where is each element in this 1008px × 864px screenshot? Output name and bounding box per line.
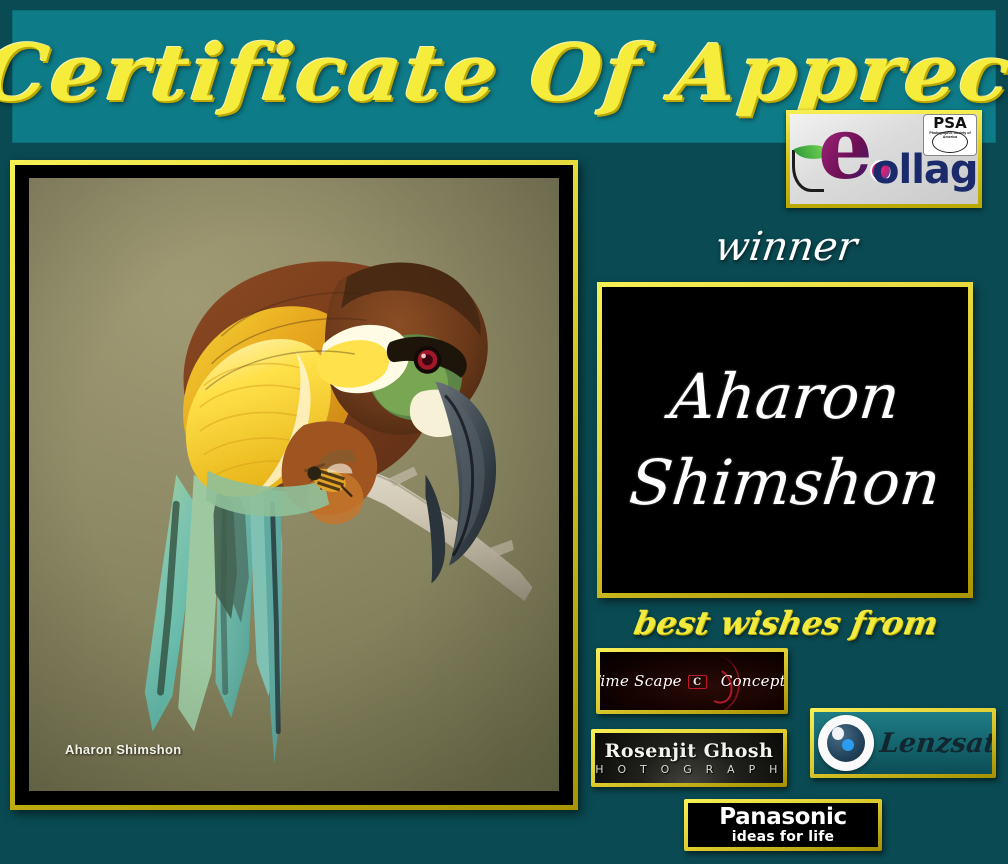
lenzsation-inner: Lenzsation (814, 712, 992, 774)
psa-oval-icon (932, 131, 968, 153)
lens-blue-dot-icon (842, 739, 854, 751)
sponsor-rosenjit-ghosh-photography: Rosenjit Ghosh P H O T O G R A P H Y (591, 729, 787, 787)
winning-photograph: Aharon Shimshon (29, 178, 559, 791)
concepts-text: Concepts (721, 672, 784, 690)
photo-mat: Aharon Shimshon (15, 165, 573, 805)
time-scape-concepts-wordmark: Time ScapeConcepts (600, 672, 784, 690)
rosenjit-ghosh-name: Rosenjit Ghosh (605, 741, 774, 762)
rosenjit-ghosh-inner: Rosenjit Ghosh P H O T O G R A P H Y (595, 733, 783, 783)
ecollage-logo: e ollage PSA Photographic Society of Ame… (786, 110, 982, 208)
best-wishes-label: best wishes from (596, 600, 976, 646)
winner-name-panel-inner: Aharon Shimshon (602, 287, 968, 593)
winner-first-name: Aharon (666, 356, 903, 438)
winner-last-name: Shimshon (626, 442, 945, 524)
time-scape-concepts-inner: Time ScapeConcepts (600, 652, 784, 710)
panasonic-tagline: ideas for life (732, 829, 834, 845)
panasonic-wordmark: Panasonic (719, 805, 846, 829)
lens-aperture-icon (827, 724, 865, 762)
psa-badge-title: PSA (924, 116, 976, 131)
photo-credit-watermark: Aharon Shimshon (65, 742, 181, 757)
sponsor-panasonic: Panasonic ideas for life (684, 799, 882, 851)
bee-eater-bird-illustration (29, 178, 559, 791)
time-scape-text: Time Scape (600, 672, 682, 690)
sponsor-time-scape-concepts: Time ScapeConcepts (596, 648, 788, 714)
panasonic-inner: Panasonic ideas for life (688, 803, 878, 847)
ecollage-logo-inner: e ollage PSA Photographic Society of Ame… (790, 114, 978, 204)
sponsor-lenzsation: Lenzsation (810, 708, 996, 778)
ecollage-letter-e: e (818, 114, 873, 192)
lens-highlight-icon (832, 727, 844, 740)
winner-name-panel: Aharon Shimshon (597, 282, 973, 598)
camera-icon (688, 675, 707, 689)
ecollage-wordmark: ollage (872, 150, 978, 190)
lenzsation-wordmark: Lenzsation (878, 728, 992, 759)
psa-badge: PSA Photographic Society of America (924, 115, 976, 155)
camera-lens-icon (818, 715, 874, 771)
winning-photo-frame: Aharon Shimshon (10, 160, 578, 810)
rosenjit-ghosh-subtitle: P H O T O G R A P H Y (595, 763, 783, 776)
winner-label: winner (596, 218, 976, 276)
certificate-of-appreciation: Certificate Of Appreciation e ollage PSA… (0, 0, 1008, 864)
